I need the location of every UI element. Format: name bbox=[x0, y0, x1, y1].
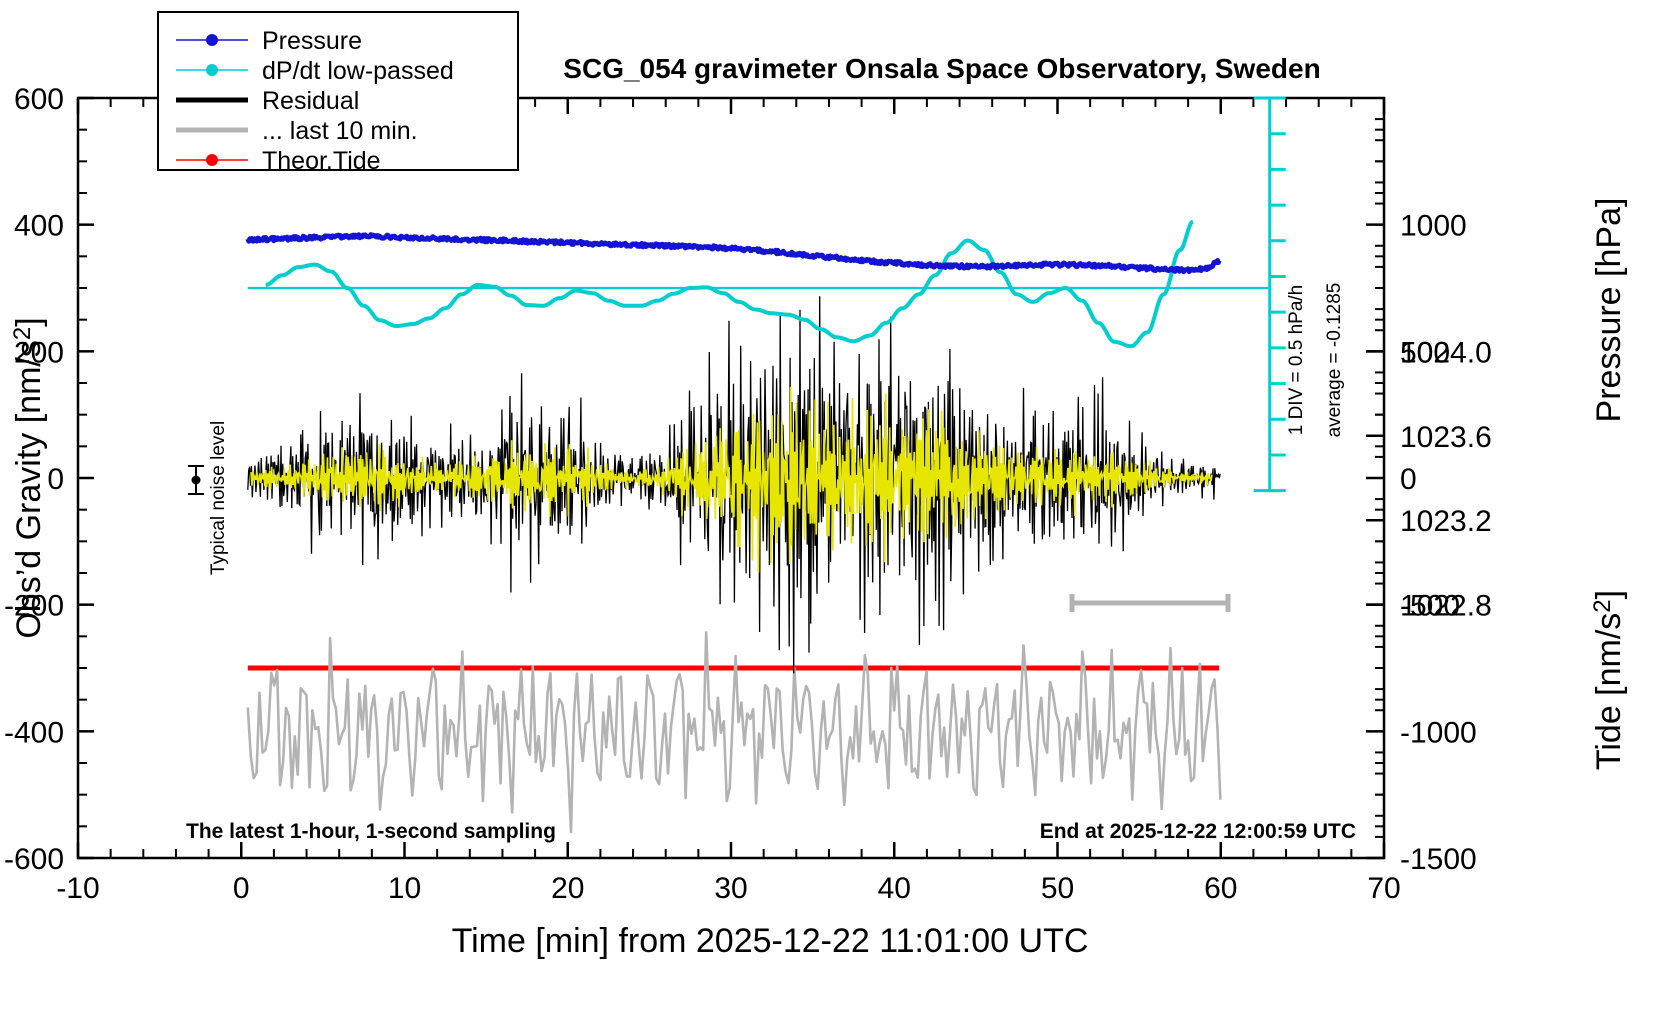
legend-label: Pressure bbox=[262, 27, 362, 55]
plot-canvas: -10010203040506070 -600-400-200020040060… bbox=[0, 0, 1660, 1020]
tide-tick-label: 500 bbox=[1400, 336, 1450, 369]
pressure-tick-label: 1023.2 bbox=[1400, 505, 1492, 538]
tide-tick-label: 0 bbox=[1400, 463, 1417, 496]
x-tick-label: 30 bbox=[714, 872, 747, 905]
tide-tick-label: -1500 bbox=[1400, 843, 1477, 876]
x-tick-label: 40 bbox=[878, 872, 911, 905]
y-tick-label: 400 bbox=[14, 210, 64, 243]
y-tick-label: 0 bbox=[47, 463, 64, 496]
y-axis-title-tide: Tide [nm/s2] bbox=[1589, 590, 1628, 770]
tide-tick-label: -500 bbox=[1400, 590, 1460, 623]
y-tick-label: -600 bbox=[4, 843, 64, 876]
tide-tick-label: 1000 bbox=[1400, 210, 1467, 243]
x-tick-label: 60 bbox=[1204, 872, 1237, 905]
x-tick-label: 50 bbox=[1041, 872, 1074, 905]
x-axis-title: Time [min] from 2025-12-22 11:01:00 UTC bbox=[452, 922, 1089, 960]
legend-marker-dot bbox=[206, 34, 218, 46]
y-axis-title-left: Obs’d Gravity [nm/s2] bbox=[9, 317, 48, 638]
tide-tick-label: -1000 bbox=[1400, 716, 1477, 749]
legend-marker-dot bbox=[206, 64, 218, 76]
gravimeter-figure: -10010203040506070 -600-400-200020040060… bbox=[0, 0, 1660, 1020]
legend: PressuredP/dt low-passedResidual... last… bbox=[158, 12, 518, 175]
legend-label: dP/dt low-passed bbox=[262, 57, 454, 85]
pressure-tick-label: 1023.6 bbox=[1400, 421, 1492, 454]
page-title: SCG_054 gravimeter Onsala Space Observat… bbox=[563, 53, 1320, 84]
legend-label: Theor.Tide bbox=[262, 147, 381, 175]
legend-marker-dot bbox=[206, 154, 218, 166]
y-axis-title-pressure: Pressure [hPa] bbox=[1590, 198, 1628, 423]
x-tick-label: 10 bbox=[388, 872, 421, 905]
x-tick-label: 70 bbox=[1367, 872, 1400, 905]
bottom-right-note: End at 2025-12-22 12:00:59 UTC bbox=[1040, 820, 1356, 843]
div-scale-label: 1 DIV = 0.5 hPa/h bbox=[1286, 285, 1307, 436]
noise-level-label: Typical noise level bbox=[208, 421, 229, 575]
average-label: average = -0.1285 bbox=[1324, 283, 1345, 438]
legend-label: Residual bbox=[262, 87, 359, 115]
x-tick-label: 20 bbox=[551, 872, 584, 905]
y-tick-label: -400 bbox=[4, 716, 64, 749]
x-tick-label: -10 bbox=[56, 872, 99, 905]
legend-label: ... last 10 min. bbox=[262, 117, 418, 145]
y-tick-label: 600 bbox=[14, 83, 64, 116]
x-tick-label: 0 bbox=[233, 872, 250, 905]
bottom-left-note: The latest 1-hour, 1-second sampling bbox=[186, 820, 556, 843]
